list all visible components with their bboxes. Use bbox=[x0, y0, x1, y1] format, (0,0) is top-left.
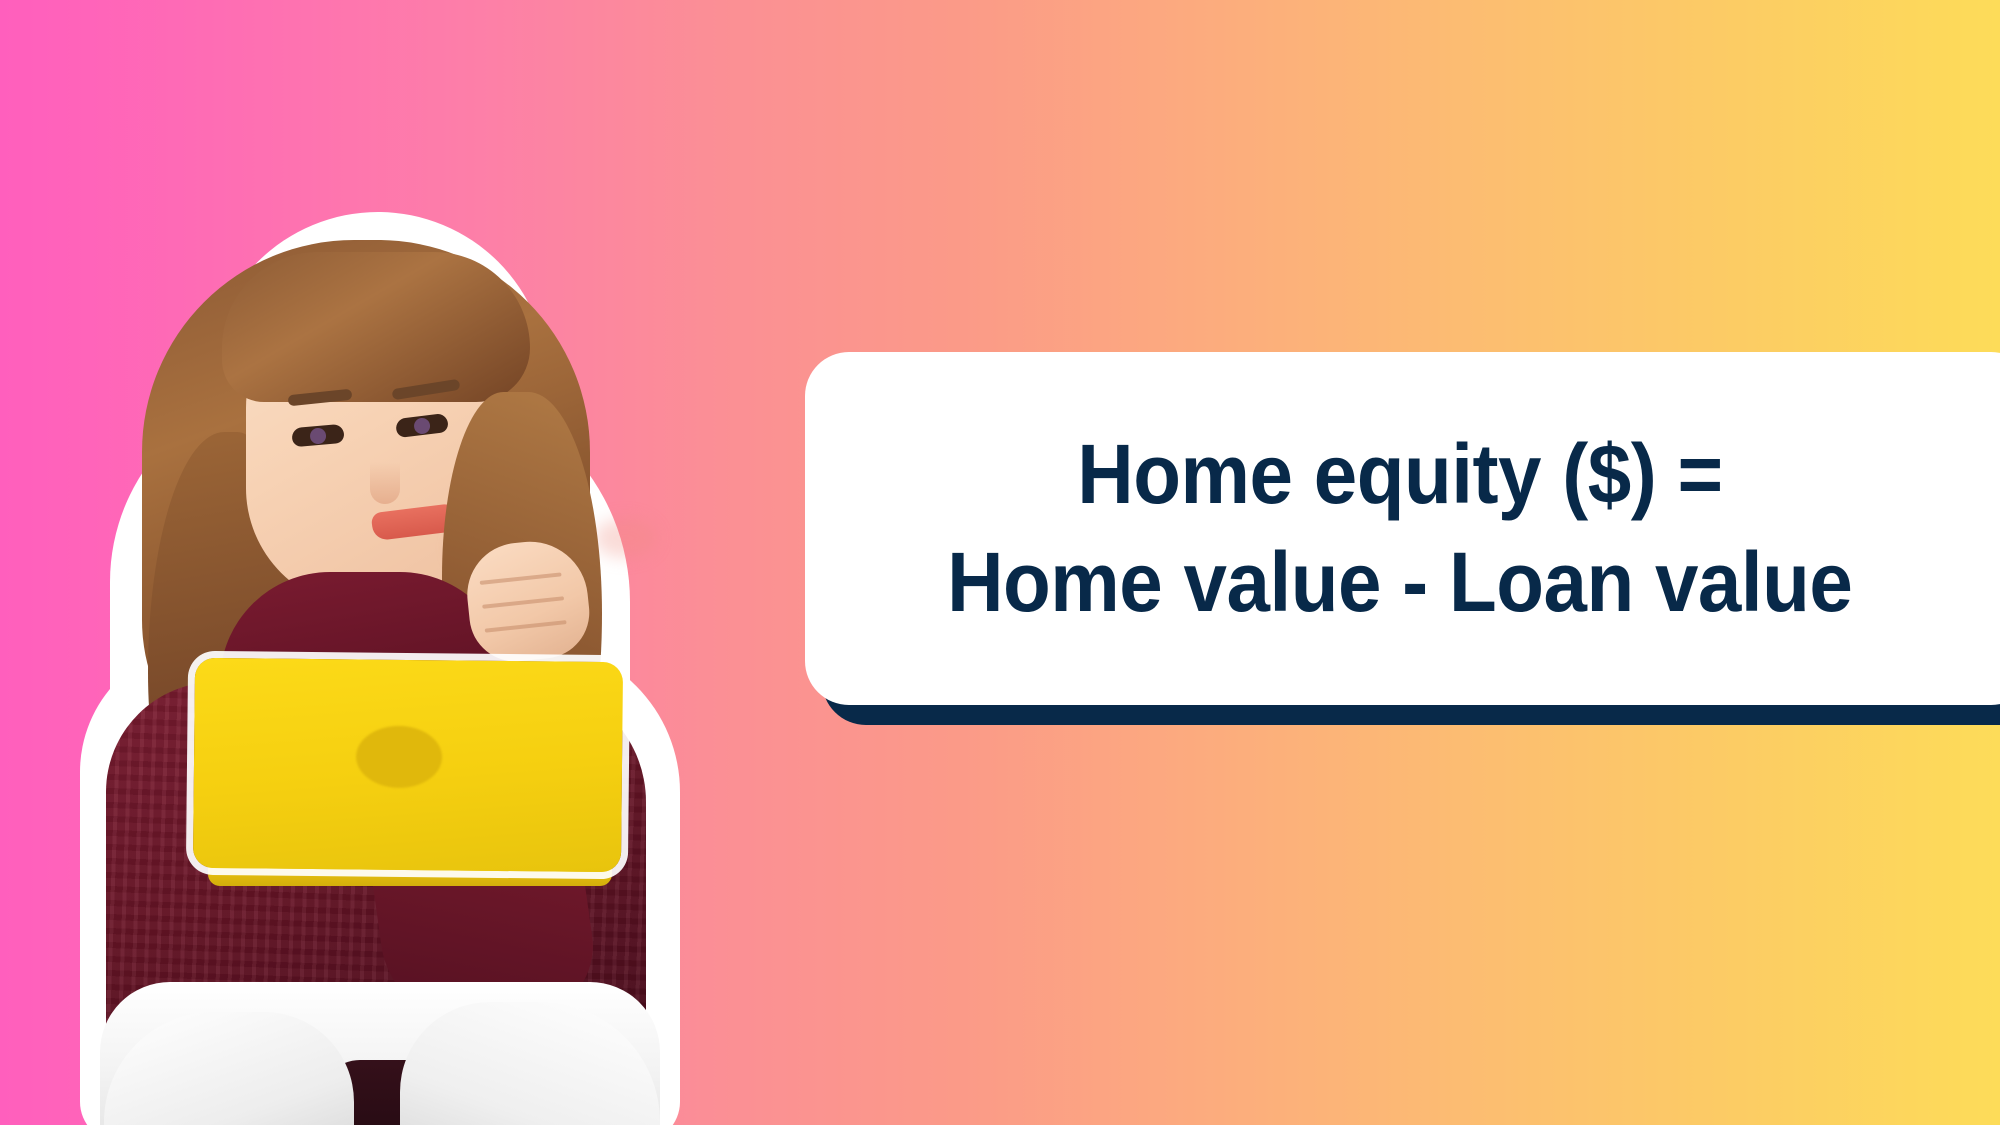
iris-right bbox=[413, 417, 431, 435]
laptop-lid bbox=[193, 658, 623, 872]
knuckle-line-1 bbox=[480, 572, 562, 585]
formula-line-1: Home equity ($) = bbox=[1077, 421, 1722, 529]
knuckle-line-2 bbox=[482, 596, 564, 609]
knuckle-line-3 bbox=[485, 620, 567, 633]
formula-line-2: Home value - Loan value bbox=[947, 529, 1852, 637]
slide-canvas: Home equity ($) = Home value - Loan valu… bbox=[0, 0, 2000, 1125]
person-photo-cutout bbox=[70, 212, 710, 1125]
blush-right bbox=[594, 518, 656, 558]
formula-card: Home equity ($) = Home value - Loan valu… bbox=[805, 352, 2000, 705]
nose bbox=[370, 462, 400, 504]
iris-left bbox=[309, 427, 326, 444]
hair-fringe bbox=[222, 252, 530, 402]
laptop-logo-icon bbox=[356, 725, 443, 788]
